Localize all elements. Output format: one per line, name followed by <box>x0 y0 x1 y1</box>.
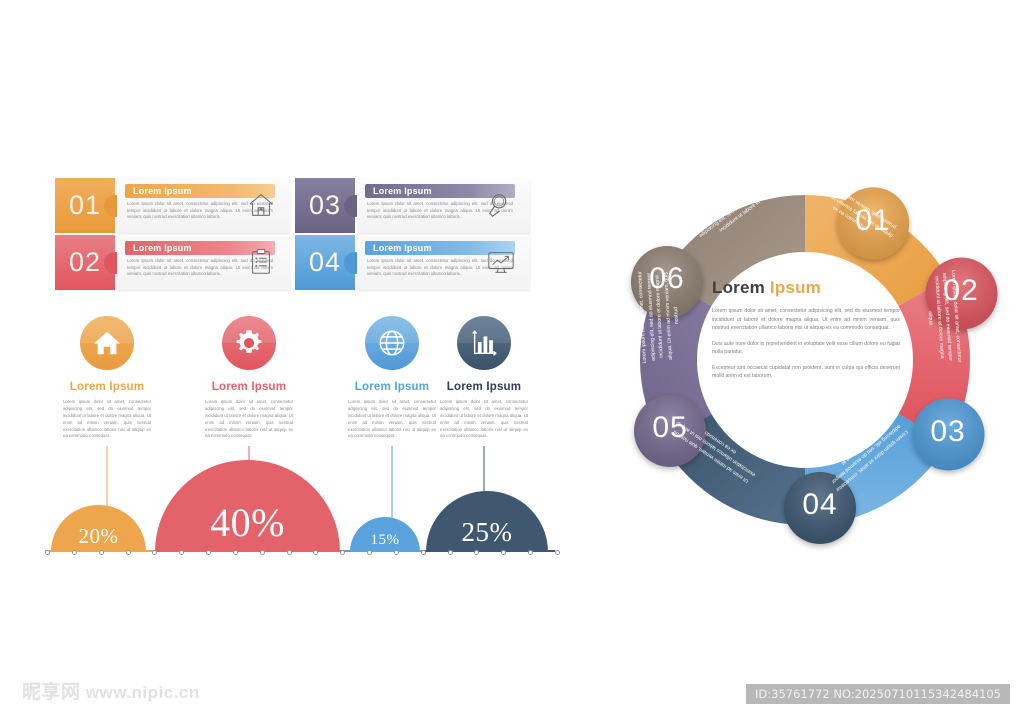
puzzle-number: 04 <box>309 247 341 278</box>
feature-column[interactable]: Lorem Ipsum Lorem ipsum dolor sit amet, … <box>205 316 293 440</box>
axis-tick <box>287 550 292 555</box>
dome-value: 40% <box>210 499 285 546</box>
watermark-site-cn: 昵享网 <box>22 682 81 703</box>
circular-process-diagram: 01 02 03 04 05 06 Ut enim ad minim venia… <box>605 160 1005 560</box>
puzzle-panel: Lorem Ipsum Lorem Ipsum dolor sit amet, … <box>117 178 290 233</box>
axis-tick <box>99 550 104 555</box>
dome-bar[interactable]: 40% <box>155 460 340 553</box>
watermark-id: ID:35761772 NO:20250710115342484105 <box>746 684 1010 704</box>
dome-value: 15% <box>371 532 400 549</box>
axis-tick <box>528 550 533 555</box>
axis-tick <box>340 550 345 555</box>
feature-body: Lorem ipsum dolor sit amet, consectetur … <box>205 399 293 440</box>
axis-tick <box>179 550 184 555</box>
center-paragraph: Excepteur sint occaecat cupidatat non pr… <box>712 364 900 381</box>
segment-label-02: Lorem ipsum dolor sit amet, consectetur … <box>923 268 964 366</box>
clipboard-icon <box>246 247 276 277</box>
home-icon <box>246 190 276 220</box>
axis-tick <box>206 550 211 555</box>
percentage-dome-chart: 20% 40% 15% 25% <box>45 440 555 552</box>
center-title: Lorem Ipsum <box>712 278 900 298</box>
gear-icon <box>222 316 276 370</box>
center-paragraph: Lorem ipsum dolor sit amet, consectetur … <box>712 307 900 333</box>
puzzle-number-badge: 03 <box>295 178 355 233</box>
feature-body: Lorem ipsum dolor sit amet, consectetur … <box>440 399 528 440</box>
puzzle-title: Lorem Ipsum <box>133 243 192 253</box>
axis-tick <box>126 550 131 555</box>
bar-chart-icon <box>457 316 511 370</box>
puzzle-title: Lorem Ipsum <box>133 186 192 196</box>
axis-tick <box>555 550 560 555</box>
feature-title: Lorem Ipsum <box>348 381 436 393</box>
center-title-part1: Lorem <box>712 278 765 297</box>
segment-number-03: 03 <box>918 415 978 449</box>
axis-tick <box>448 550 453 555</box>
puzzle-panel: Lorem Ipsum Lorem Ipsum dolor sit amet, … <box>117 235 290 290</box>
puzzle-group-left: 01 Lorem Ipsum Lorem Ipsum dolor sit ame… <box>55 178 290 288</box>
puzzle-number-badge: 01 <box>55 178 115 233</box>
segment-label-05: Lorem ipsum dolor sit amet, consectetur … <box>636 267 684 365</box>
puzzle-number: 01 <box>69 190 101 221</box>
puzzle-number: 02 <box>69 247 101 278</box>
axis-tick <box>421 550 426 555</box>
dome-bar[interactable]: 15% <box>350 517 420 552</box>
dome-bar[interactable]: 20% <box>51 505 146 553</box>
puzzle-row[interactable]: 01 Lorem Ipsum Lorem Ipsum dolor sit ame… <box>55 178 290 233</box>
puzzle-row[interactable]: 03 Lorem Ipsum Lorem Ipsum dolor sit ame… <box>295 178 530 233</box>
axis-tick <box>394 550 399 555</box>
segment-number-04: 04 <box>790 488 850 522</box>
feature-title: Lorem Ipsum <box>205 381 293 393</box>
feature-body: Lorem ipsum dolor sit amet, consectetur … <box>63 399 151 440</box>
feature-body: Lorem ipsum dolor sit amet, consectetur … <box>348 399 436 440</box>
feature-title: Lorem Ipsum <box>63 381 151 393</box>
magnifier-icon <box>486 190 516 220</box>
home-icon <box>80 316 134 370</box>
center-title-part2: Ipsum <box>770 278 821 297</box>
dome-value: 25% <box>462 517 513 548</box>
donut-center-content: Lorem Ipsum Lorem ipsum dolor sit amet, … <box>712 278 900 388</box>
puzzle-group-right: 03 Lorem Ipsum Lorem Ipsum dolor sit ame… <box>295 178 530 288</box>
watermark-site-url: www.nipic.cn <box>86 683 200 702</box>
axis-tick <box>152 550 157 555</box>
globe-icon <box>365 316 419 370</box>
axis-tick <box>260 550 265 555</box>
dome-bar[interactable]: 25% <box>426 491 548 552</box>
puzzle-title: Lorem Ipsum <box>373 186 432 196</box>
puzzle-number-badge: 04 <box>295 235 355 290</box>
dome-value: 20% <box>79 524 119 549</box>
feature-column[interactable]: Lorem Ipsum Lorem ipsum dolor sit amet, … <box>348 316 436 440</box>
axis-tick <box>501 550 506 555</box>
puzzle-row[interactable]: 02 Lorem Ipsum Lorem Ipsum dolor sit ame… <box>55 235 290 290</box>
feature-column[interactable]: Lorem Ipsum Lorem ipsum dolor sit amet, … <box>63 316 151 440</box>
watermark-site: 昵享网 www.nipic.cn <box>22 677 200 704</box>
feature-title: Lorem Ipsum <box>440 381 528 393</box>
axis-tick <box>233 550 238 555</box>
center-paragraph: Duis aute irure dolor in reprehenderit i… <box>712 340 900 357</box>
axis-tick <box>72 550 77 555</box>
puzzle-panel: Lorem Ipsum Lorem Ipsum dolor sit amet, … <box>357 178 530 233</box>
puzzle-panel: Lorem Ipsum Lorem Ipsum dolor sit amet, … <box>357 235 530 290</box>
axis-tick <box>367 550 372 555</box>
feature-column[interactable]: Lorem Ipsum Lorem ipsum dolor sit amet, … <box>440 316 528 440</box>
monitor-chart-icon <box>486 247 516 277</box>
axis-tick <box>45 550 50 555</box>
puzzle-number: 03 <box>309 190 341 221</box>
puzzle-title: Lorem Ipsum <box>373 243 432 253</box>
puzzle-number-badge: 02 <box>55 235 115 290</box>
infographic-canvas: 01 Lorem Ipsum Lorem Ipsum dolor sit ame… <box>0 0 1024 722</box>
axis-tick <box>313 550 318 555</box>
puzzle-row[interactable]: 04 Lorem Ipsum Lorem Ipsum dolor sit ame… <box>295 235 530 290</box>
